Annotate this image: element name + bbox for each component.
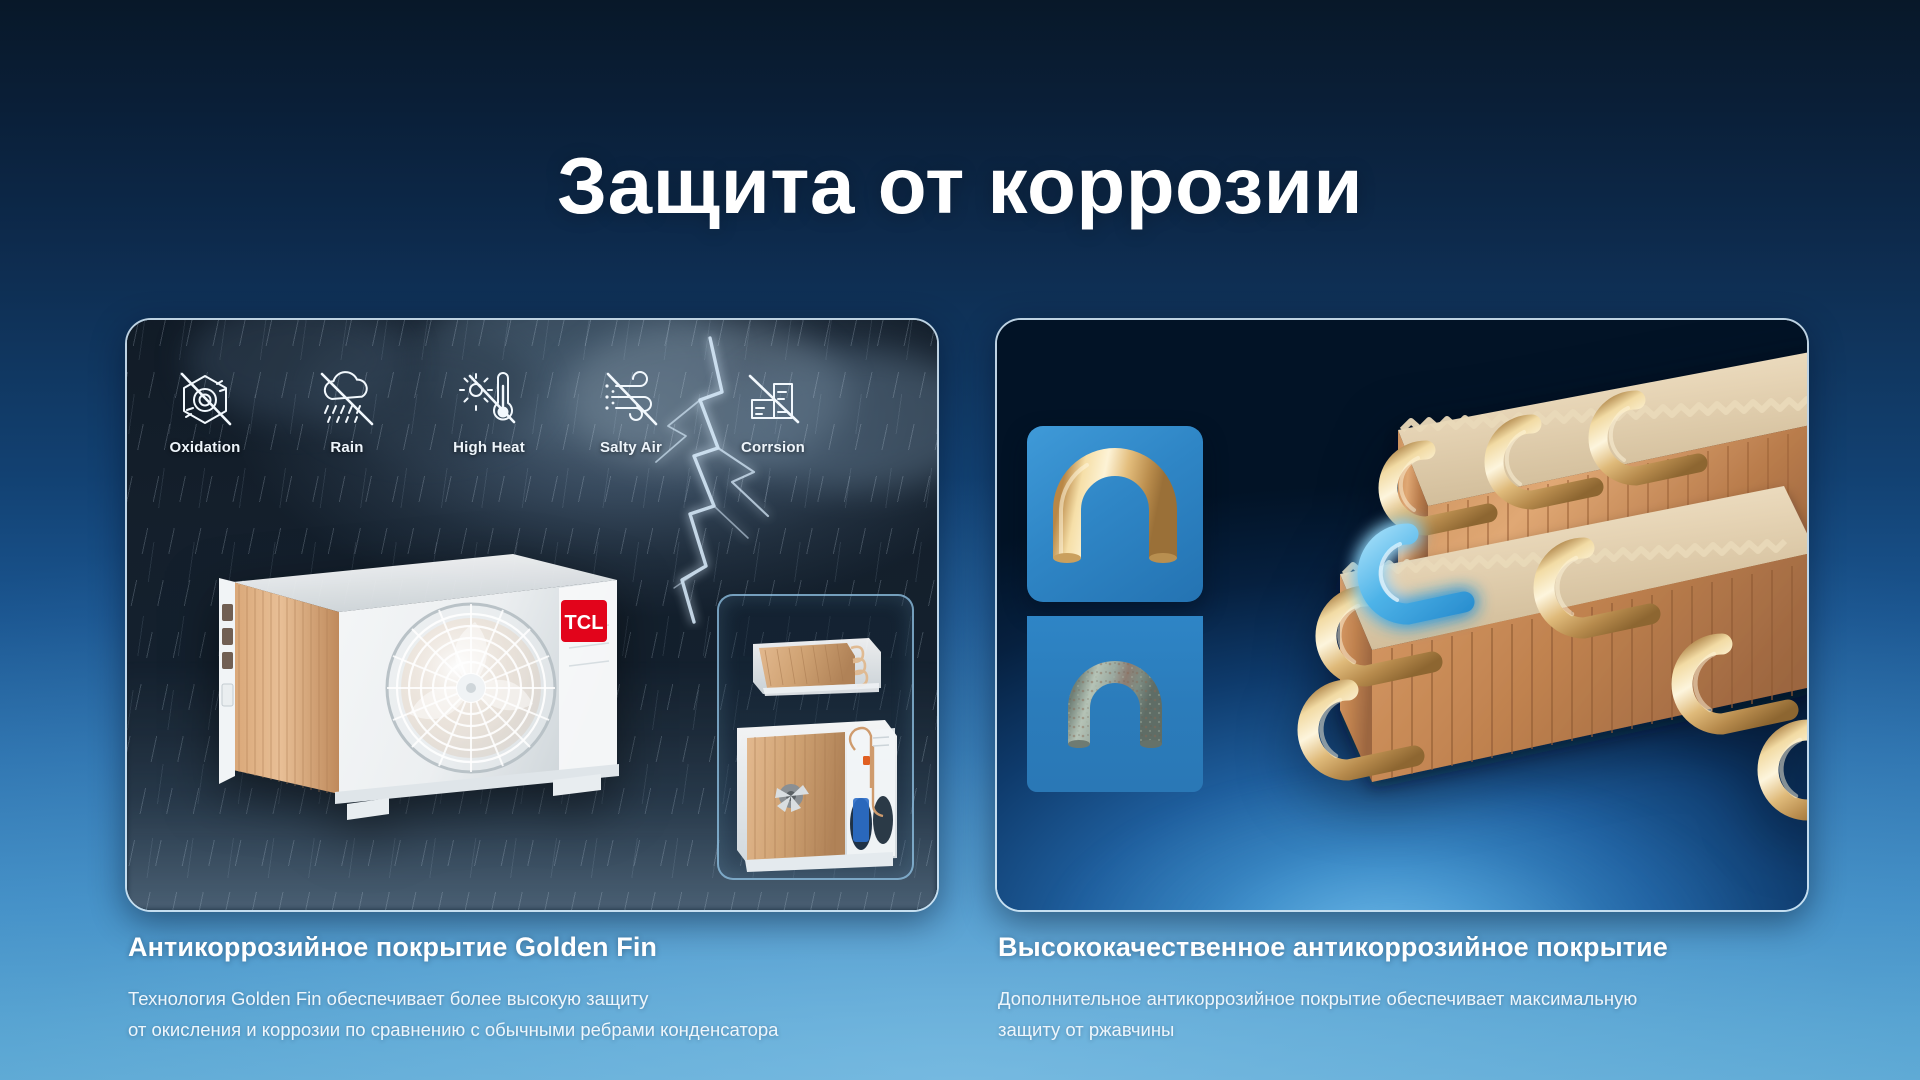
right-caption-body: Дополнительное антикоррозийное покрытие … [998,983,1668,1045]
protection-icon-label: Corrsion [741,439,805,456]
salty-air-icon [598,368,664,430]
protection-icon-item: High Heat [435,368,543,456]
golden-u-tube-icon [1027,426,1203,602]
oxidation-icon [172,368,238,430]
protection-icon-row: Oxidation Rain [151,368,827,456]
right-caption-title: Высококачественное антикоррозийное покры… [998,932,1668,963]
protection-icon-item: Oxidation [151,368,259,456]
protection-icon-item: Salty Air [577,368,685,456]
golden-fin-card[interactable]: Oxidation Rain [125,318,939,912]
slide-root: Защита от коррозии [0,0,1920,1080]
protection-icon-label: Oxidation [170,439,241,456]
left-caption-body: Технология Golden Fin обеспечивает более… [128,983,778,1045]
left-caption-line-2: от окисления и коррозии по сравнению с о… [128,1014,778,1045]
page-title: Защита от коррозии [0,146,1920,226]
protection-icon-item: Rain [293,368,401,456]
right-caption-line-2: защиту от ржавчины [998,1014,1668,1045]
anticorrosion-coating-card[interactable] [995,318,1809,912]
corroded-u-tube-icon [1027,616,1203,792]
protection-icon-label: High Heat [453,439,525,456]
left-caption-title: Антикоррозийное покрытие Golden Fin [128,932,778,963]
corroded-tube-tile [1027,616,1203,792]
unit-detail-inset[interactable] [717,594,914,880]
protection-icon-label: Rain [330,439,363,456]
corrosion-icon [740,368,806,430]
protection-icon-item: Corrsion [719,368,827,456]
right-caption: Высококачественное антикоррозийное покры… [998,932,1668,1045]
golden-tube-tile [1027,426,1203,602]
protection-icon-label: Salty Air [600,439,662,456]
golden-fin-coil-image [1212,338,1809,868]
right-caption-line-1: Дополнительное антикоррозийное покрытие … [998,983,1668,1014]
inset-units-image [719,596,912,878]
rain-icon [314,368,380,430]
outdoor-unit-image: TCL [213,508,633,838]
tcl-logo: TCL [561,600,607,642]
cards-container: Oxidation Rain [0,318,1920,918]
left-caption-line-1: Технология Golden Fin обеспечивает более… [128,983,778,1014]
left-caption: Антикоррозийное покрытие Golden Fin Техн… [128,932,778,1045]
svg-text:TCL: TCL [565,612,604,634]
high-heat-icon [456,368,522,430]
